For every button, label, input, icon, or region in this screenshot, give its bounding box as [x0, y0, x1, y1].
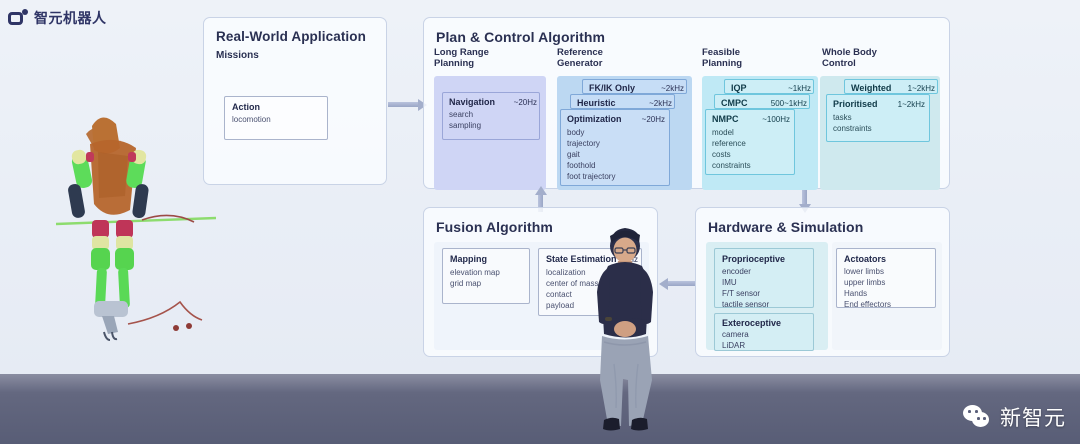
group-long-range-planning: Navigation ~20Hz search sampling [434, 76, 546, 190]
card-rate-nmpc: ~100Hz [762, 115, 790, 124]
card-proprioceptive[interactable]: Proprioceptive encoder IMU F/T sensor ta… [714, 248, 814, 308]
card-title-weighted: Weighted [851, 83, 891, 93]
card-weighted[interactable]: Weighted 1~2kHz [844, 79, 938, 94]
card-item-search: search [449, 110, 473, 120]
card-item-tasks: tasks [833, 113, 852, 123]
card-item-trajectory: trajectory [567, 139, 600, 149]
card-item-constraints-wbc: constraints [833, 124, 872, 134]
card-navigation[interactable]: Navigation ~20Hz search sampling [442, 92, 540, 140]
card-rate-iqp: ~1kHz [788, 84, 811, 93]
card-prioritised[interactable]: Prioritised 1~2kHz tasks constraints [826, 94, 930, 142]
card-item-hands: Hands [844, 289, 867, 299]
card-rate-optimization: ~20Hz [642, 115, 665, 124]
card-item-locomotion: locomotion [232, 115, 271, 125]
card-item-ft-sensor: F/T sensor [722, 289, 760, 299]
agibot-logo-icon [8, 9, 28, 27]
card-mapping[interactable]: Mapping elevation map grid map [442, 248, 530, 304]
panel-real-world-application[interactable]: Real-World Application Missions Action l… [203, 17, 387, 185]
column-whole-body-control: Whole Body Control [822, 48, 877, 70]
card-exteroceptive[interactable]: Exteroceptive camera LiDAR [714, 313, 814, 351]
card-item-sampling: sampling [449, 121, 481, 131]
card-fk-ik-only[interactable]: FK/IK Only ~2kHz [582, 79, 687, 94]
floor-sheen [0, 374, 1080, 392]
column-label-whole-body-control-l2: Control [822, 59, 877, 70]
card-item-lidar: LiDAR [722, 341, 745, 351]
card-item-foot-trajectory: foot trajectory [567, 172, 615, 182]
channel-watermark: 新智元 [963, 402, 1066, 432]
brand-logo: 智元机器人 [8, 8, 107, 28]
panel-hardware-simulation[interactable]: Hardware & Simulation Proprioceptive enc… [695, 207, 950, 357]
card-title-fk-ik-only: FK/IK Only [589, 83, 635, 93]
card-item-elevation-map: elevation map [450, 268, 500, 278]
card-item-grid-map: grid map [450, 279, 481, 289]
card-rate-heuristic: ~2kHz [649, 99, 672, 108]
column-label-feasible-planning-l2: Planning [702, 59, 742, 70]
card-item-payload: payload [546, 301, 574, 311]
card-nmpc[interactable]: NMPC ~100Hz model reference costs constr… [705, 109, 795, 175]
column-long-range-planning: Long Range Planning [434, 48, 489, 70]
card-item-lower-limbs: lower limbs [844, 267, 884, 277]
card-item-upper-limbs: upper limbs [844, 278, 885, 288]
card-item-imu: IMU [722, 278, 737, 288]
card-title-optimization: Optimization [567, 114, 622, 124]
card-item-encoder: encoder [722, 267, 751, 277]
presenter-person [578, 224, 674, 434]
card-title-heuristic: Heuristic [577, 98, 616, 108]
panel-title-plan-control: Plan & Control Algorithm [436, 29, 605, 45]
column-feasible-planning: Feasible Planning [702, 48, 742, 70]
label-missions: Missions [216, 50, 259, 62]
card-actoators[interactable]: Actoators lower limbs upper limbs Hands … [836, 248, 936, 308]
card-title-exteroceptive: Exteroceptive [722, 318, 781, 328]
card-item-end-effectors: End effectors [844, 300, 891, 310]
wechat-icon [963, 405, 993, 429]
card-rate-weighted: 1~2kHz [908, 84, 935, 93]
card-item-model: model [712, 128, 734, 138]
card-rate-prioritised: 1~2kHz [898, 100, 925, 109]
column-label-long-range-planning-l2: Planning [434, 59, 489, 70]
panel-title-real-world: Real-World Application [216, 29, 366, 44]
slide-stage: 智元机器人 Real-World Application Mis [0, 0, 1080, 444]
card-heuristic[interactable]: Heuristic ~2kHz [570, 94, 675, 109]
card-item-body: body [567, 128, 584, 138]
card-title-nmpc: NMPC [712, 114, 739, 124]
group-whole-body-control: Weighted 1~2kHz Prioritised 1~2kHz tasks… [820, 76, 940, 190]
panel-title-fusion: Fusion Algorithm [436, 219, 553, 235]
group-reference-generator: FK/IK Only ~2kHz Heuristic ~2kHz Optimiz… [557, 76, 692, 190]
card-item-costs: costs [712, 150, 731, 160]
card-rate-cmpc: 500~1kHz [771, 99, 807, 108]
column-reference-generator: Reference Generator [557, 48, 603, 70]
panel-plan-control-algorithm[interactable]: Plan & Control Algorithm Long Range Plan… [423, 17, 950, 189]
card-item-contact: contact [546, 290, 572, 300]
card-title-mapping: Mapping [450, 254, 487, 264]
watermark-name: 新智元 [1000, 402, 1066, 432]
card-item-camera: camera [722, 330, 749, 340]
card-item-reference: reference [712, 139, 746, 149]
card-rate-fk-ik-only: ~2kHz [661, 84, 684, 93]
card-item-constraints-nmpc: constraints [712, 161, 751, 171]
brand-name: 智元机器人 [34, 8, 107, 28]
card-item-gait: gait [567, 150, 580, 160]
card-title-action: Action [232, 102, 260, 112]
card-title-prioritised: Prioritised [833, 99, 878, 109]
card-item-tactile-sensor: tactile sensor [722, 300, 769, 310]
robot-skeleton-visualization [56, 96, 216, 346]
card-optimization[interactable]: Optimization ~20Hz body trajectory gait … [560, 109, 670, 186]
card-rate-navigation: ~20Hz [514, 98, 537, 107]
card-cmpc[interactable]: CMPC 500~1kHz [714, 94, 810, 109]
card-item-foothold: foothold [567, 161, 595, 171]
card-title-iqp: IQP [731, 83, 747, 93]
column-label-reference-generator-l2: Generator [557, 59, 603, 70]
group-feasible-planning: IQP ~1kHz CMPC 500~1kHz NMPC ~100Hz mode… [702, 76, 818, 190]
panel-title-hardware: Hardware & Simulation [708, 219, 863, 235]
card-title-actoators: Actoators [844, 254, 886, 264]
card-title-navigation: Navigation [449, 97, 495, 107]
card-action[interactable]: Action locomotion [224, 96, 328, 140]
card-iqp[interactable]: IQP ~1kHz [724, 79, 814, 94]
card-title-proprioceptive: Proprioceptive [722, 254, 785, 264]
card-title-cmpc: CMPC [721, 98, 748, 108]
